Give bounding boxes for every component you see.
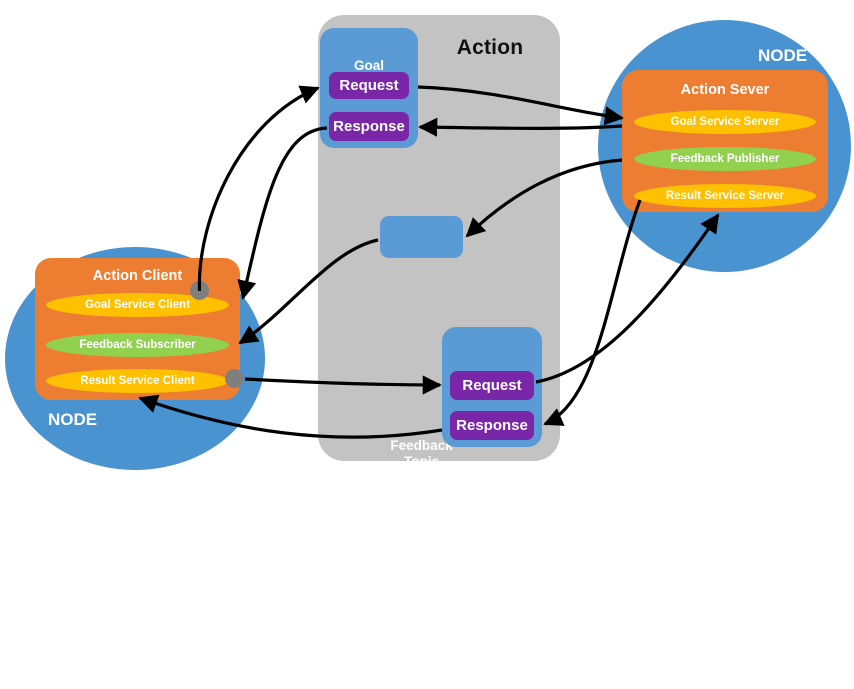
action-client-title: Action Client (35, 268, 240, 284)
result-service-title: Result Service (442, 657, 542, 689)
result-client-connector-dot (225, 369, 244, 388)
goal-service-request-pill[interactable]: Request (329, 72, 409, 99)
goal-service-response-pill[interactable]: Response (329, 112, 409, 141)
arrow-goal-response-to-client (243, 128, 327, 298)
action-client-box: Action Client Goal Service Client Feedba… (35, 258, 240, 400)
result-service-client-label: Result Service Client (80, 375, 194, 387)
feedback-publisher-label: Feedback Publisher (671, 153, 780, 165)
action-panel-title: Action (430, 36, 550, 60)
goal-service-server-label: Goal Service Server (671, 116, 780, 128)
diagram-canvas: Action NODE NODE Action Client Goal Serv… (0, 0, 854, 480)
result-service-client-ellipse[interactable]: Result Service Client (46, 369, 229, 393)
goal-service-server-ellipse[interactable]: Goal Service Server (634, 110, 816, 134)
feedback-publisher-ellipse[interactable]: Feedback Publisher (634, 147, 816, 171)
action-server-title: Action Sever (622, 82, 828, 98)
action-server-box: Action Sever Goal Service Server Feedbac… (622, 70, 828, 212)
result-service-server-ellipse[interactable]: Result Service Server (634, 184, 816, 208)
goal-client-connector-dot (190, 281, 209, 300)
server-node-label: NODE (758, 46, 807, 66)
feedback-subscriber-label: Feedback Subscriber (79, 339, 195, 351)
result-service-title-line1: Result (442, 657, 542, 673)
feedback-topic-box[interactable]: Feedback Topic (380, 216, 463, 258)
goal-service-client-label: Goal Service Client (85, 299, 190, 311)
client-node-label: NODE (48, 410, 97, 430)
result-service-server-label: Result Service Server (666, 190, 784, 202)
feedback-subscriber-ellipse[interactable]: Feedback Subscriber (46, 333, 229, 357)
result-service-title-line2: Service (442, 673, 542, 689)
result-service-request-pill[interactable]: Request (450, 371, 534, 400)
feedback-topic-title-line2: Topic (380, 454, 463, 470)
result-service-response-pill[interactable]: Response (450, 411, 534, 440)
